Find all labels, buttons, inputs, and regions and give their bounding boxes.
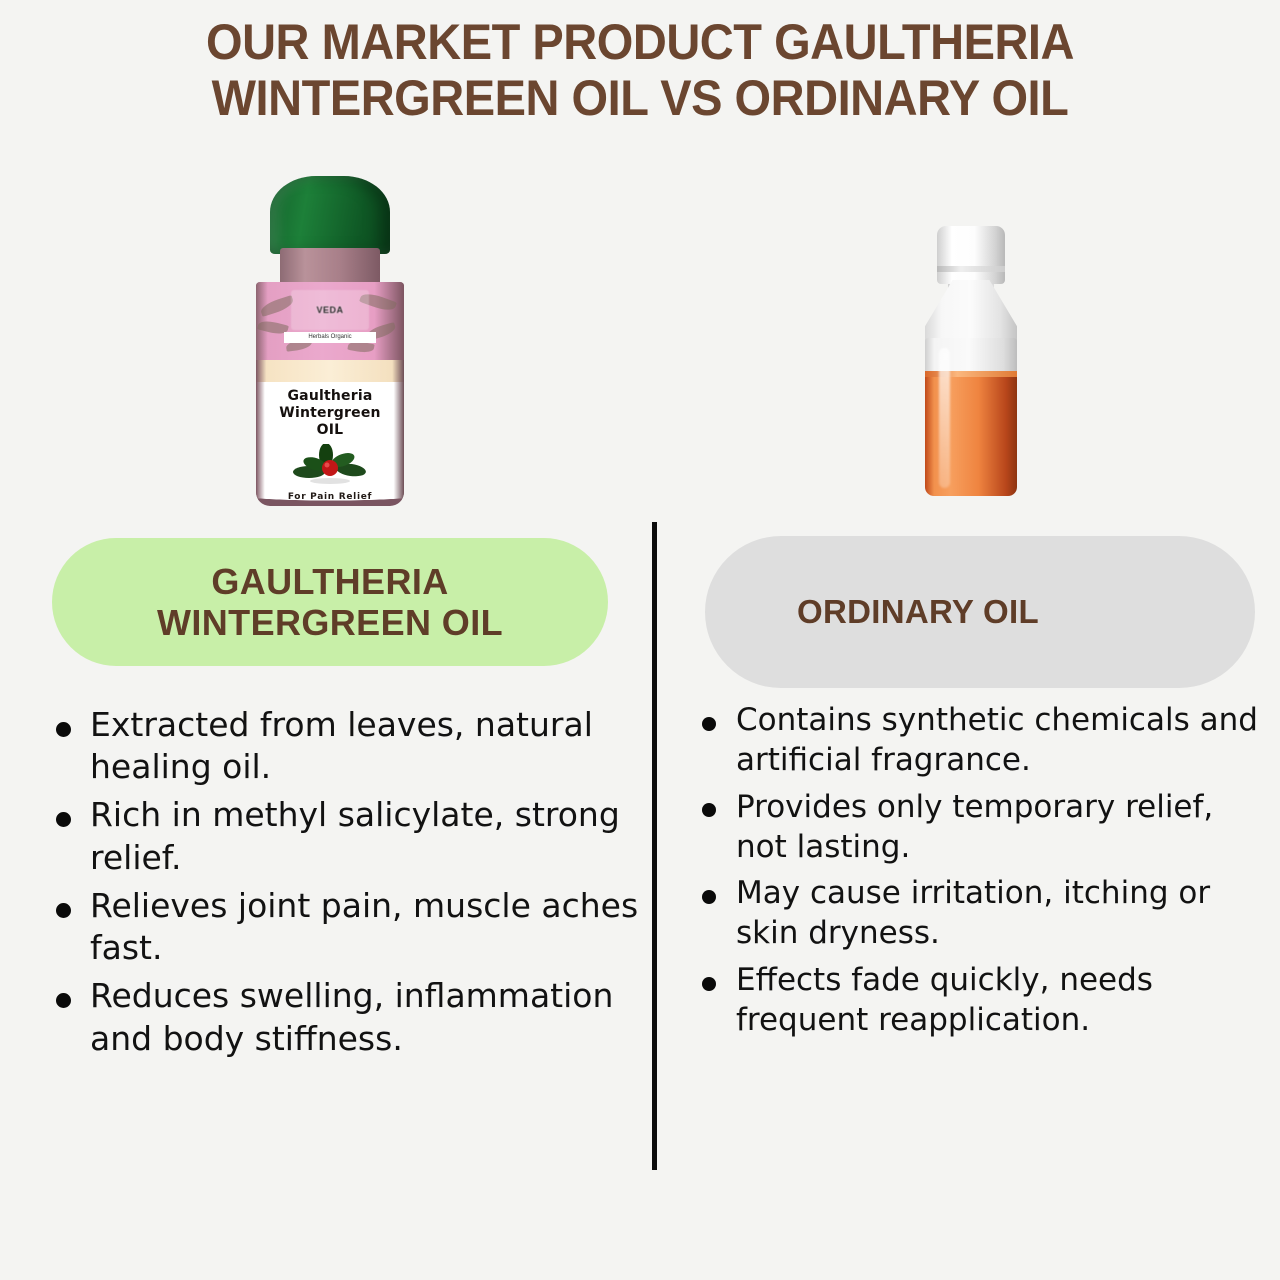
ordinary-bottle-cap-ring (937, 266, 1005, 272)
gaultheria-heading-line-2: WINTERGREEN OIL (157, 602, 503, 643)
bullet-dot-icon (702, 803, 716, 817)
bullet-dot-icon (56, 812, 71, 827)
page-title-line-2: WINTERGREEN OIL VS ORDINARY OIL (38, 70, 1241, 126)
bottle-name-line-1: Gaultheria (256, 388, 404, 405)
gaultheria-benefits-list-container: Extracted from leaves, natural healing o… (38, 704, 648, 1066)
gaultheria-bottle-image: VEDA Herbals Organic Gaultheria Wintergr… (248, 176, 412, 506)
bullet-dot-icon (56, 903, 71, 918)
page-title-line-1: OUR MARKET PRODUCT GAULTHERIA (38, 14, 1241, 70)
list-item-text: Reduces swelling, inflammation and body … (90, 976, 613, 1057)
bottle-body: VEDA Herbals Organic Gaultheria Wintergr… (256, 282, 404, 506)
list-item-text: Extracted from leaves, natural healing o… (90, 705, 593, 786)
ordinary-oil-bottle-image (916, 226, 1026, 498)
bullet-dot-icon (702, 890, 716, 904)
ordinary-drawbacks-list: Contains synthetic chemicals and artific… (684, 700, 1264, 1040)
glass-highlight (939, 348, 950, 488)
list-item: Relieves joint pain, muscle aches fast. (38, 885, 648, 969)
list-item: Rich in methyl salicylate, strong relief… (38, 794, 648, 878)
list-item: Extracted from leaves, natural healing o… (38, 704, 648, 788)
brand-tagline: Herbals Organic (284, 332, 376, 343)
bottle-product-name: Gaultheria Wintergreen OIL (256, 388, 404, 439)
bottle-neck (280, 248, 380, 286)
list-item-text: Contains synthetic chemicals and artific… (736, 702, 1258, 778)
list-item-text: Effects fade quickly, needs frequent rea… (736, 962, 1153, 1038)
ordinary-drawbacks-list-container: Contains synthetic chemicals and artific… (684, 700, 1264, 1046)
list-item-text: Provides only temporary relief, not last… (736, 789, 1213, 865)
list-item: Reduces swelling, inflammation and body … (38, 975, 648, 1059)
ordinary-bottle-body (925, 338, 1017, 496)
infographic-page: OUR MARKET PRODUCT GAULTHERIA WINTERGREE… (0, 0, 1280, 1280)
list-item: Effects fade quickly, needs frequent rea… (684, 960, 1264, 1041)
bullet-dot-icon (702, 717, 716, 731)
list-item-text: May cause irritation, itching or skin dr… (736, 875, 1210, 951)
bottle-label-cream-band (256, 360, 404, 382)
list-item: May cause irritation, itching or skin dr… (684, 873, 1264, 954)
ordinary-column-heading: ORDINARY OIL (705, 536, 1255, 688)
bottle-label-pink-band: VEDA Herbals Organic (256, 282, 404, 360)
bottle-name-line-2: Wintergreen (256, 405, 404, 422)
brand-logo: VEDA (291, 290, 369, 330)
ordinary-bottle-shoulder (925, 280, 1017, 346)
bottle-cap-green (270, 176, 390, 254)
column-divider (652, 522, 657, 1170)
bullet-dot-icon (702, 977, 716, 991)
list-item: Provides only temporary relief, not last… (684, 787, 1264, 868)
gaultheria-heading-line-1: GAULTHERIA (157, 561, 503, 602)
list-item-text: Rich in methyl salicylate, strong relief… (90, 795, 620, 876)
bottle-name-line-3: OIL (256, 422, 404, 439)
list-item-text: Relieves joint pain, muscle aches fast. (90, 886, 638, 967)
ordinary-bottle-cap-white (937, 226, 1005, 284)
bottle-bottom-shade (256, 492, 404, 506)
page-title: OUR MARKET PRODUCT GAULTHERIA WINTERGREE… (38, 14, 1241, 126)
list-item: Contains synthetic chemicals and artific… (684, 700, 1264, 781)
ordinary-heading-label: ORDINARY OIL (797, 593, 1039, 631)
bottle-label-white-area: Gaultheria Wintergreen OIL For Pain Reli… (256, 382, 404, 506)
gaultheria-column-heading: GAULTHERIA WINTERGREEN OIL (52, 538, 608, 666)
bullet-dot-icon (56, 993, 71, 1008)
bullet-dot-icon (56, 722, 71, 737)
gaultheria-benefits-list: Extracted from leaves, natural healing o… (38, 704, 648, 1060)
wintergreen-berry-icon (293, 444, 367, 484)
